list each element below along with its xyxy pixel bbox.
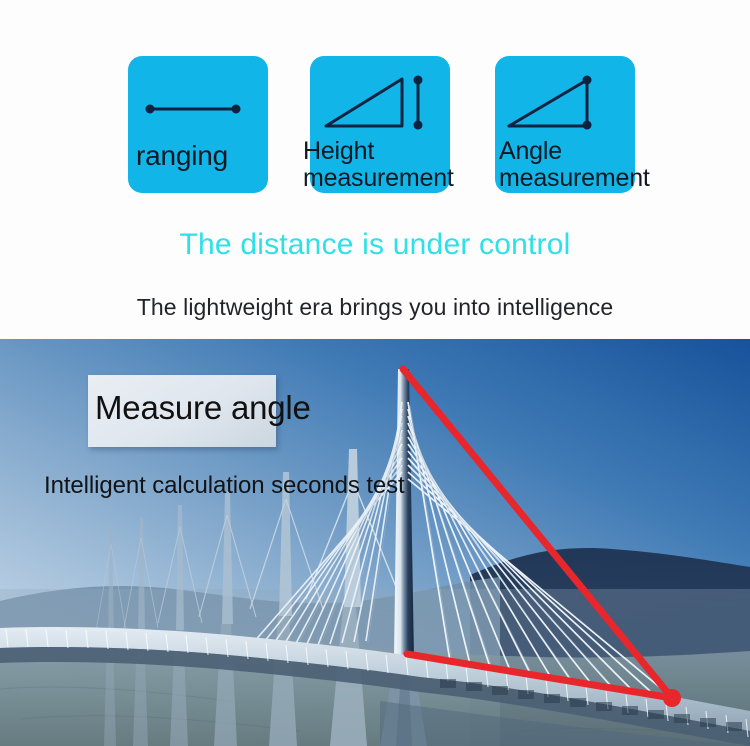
measuring-line-icon xyxy=(128,56,268,151)
feature-label-angle-line2: measurement xyxy=(499,165,650,192)
feature-label-angle-line1: Angle xyxy=(499,137,562,165)
measure-angle-title: Measure angle xyxy=(95,386,311,430)
subtitle: The lightweight era brings you into inte… xyxy=(0,294,750,321)
feature-label-height-measurement: Height measurement xyxy=(303,138,454,192)
feature-label-ranging: ranging xyxy=(136,142,228,169)
tagline: The distance is under control xyxy=(0,228,750,262)
feature-label-angle-measurement: Angle measurement xyxy=(499,138,650,192)
promo-banner: ranging Height measurement xyxy=(0,0,750,746)
feature-label-height-line2: measurement xyxy=(303,165,454,192)
feature-label-ranging-line1: ranging xyxy=(136,140,228,171)
feature-card-ranging[interactable] xyxy=(128,56,268,193)
photo-panel: Measure angle Intelligent calculation se… xyxy=(0,339,750,746)
feature-label-height-line1: Height xyxy=(303,137,374,165)
features-panel: ranging Height measurement xyxy=(0,0,750,339)
measure-angle-subtitle: Intelligent calculation seconds test xyxy=(44,472,405,500)
